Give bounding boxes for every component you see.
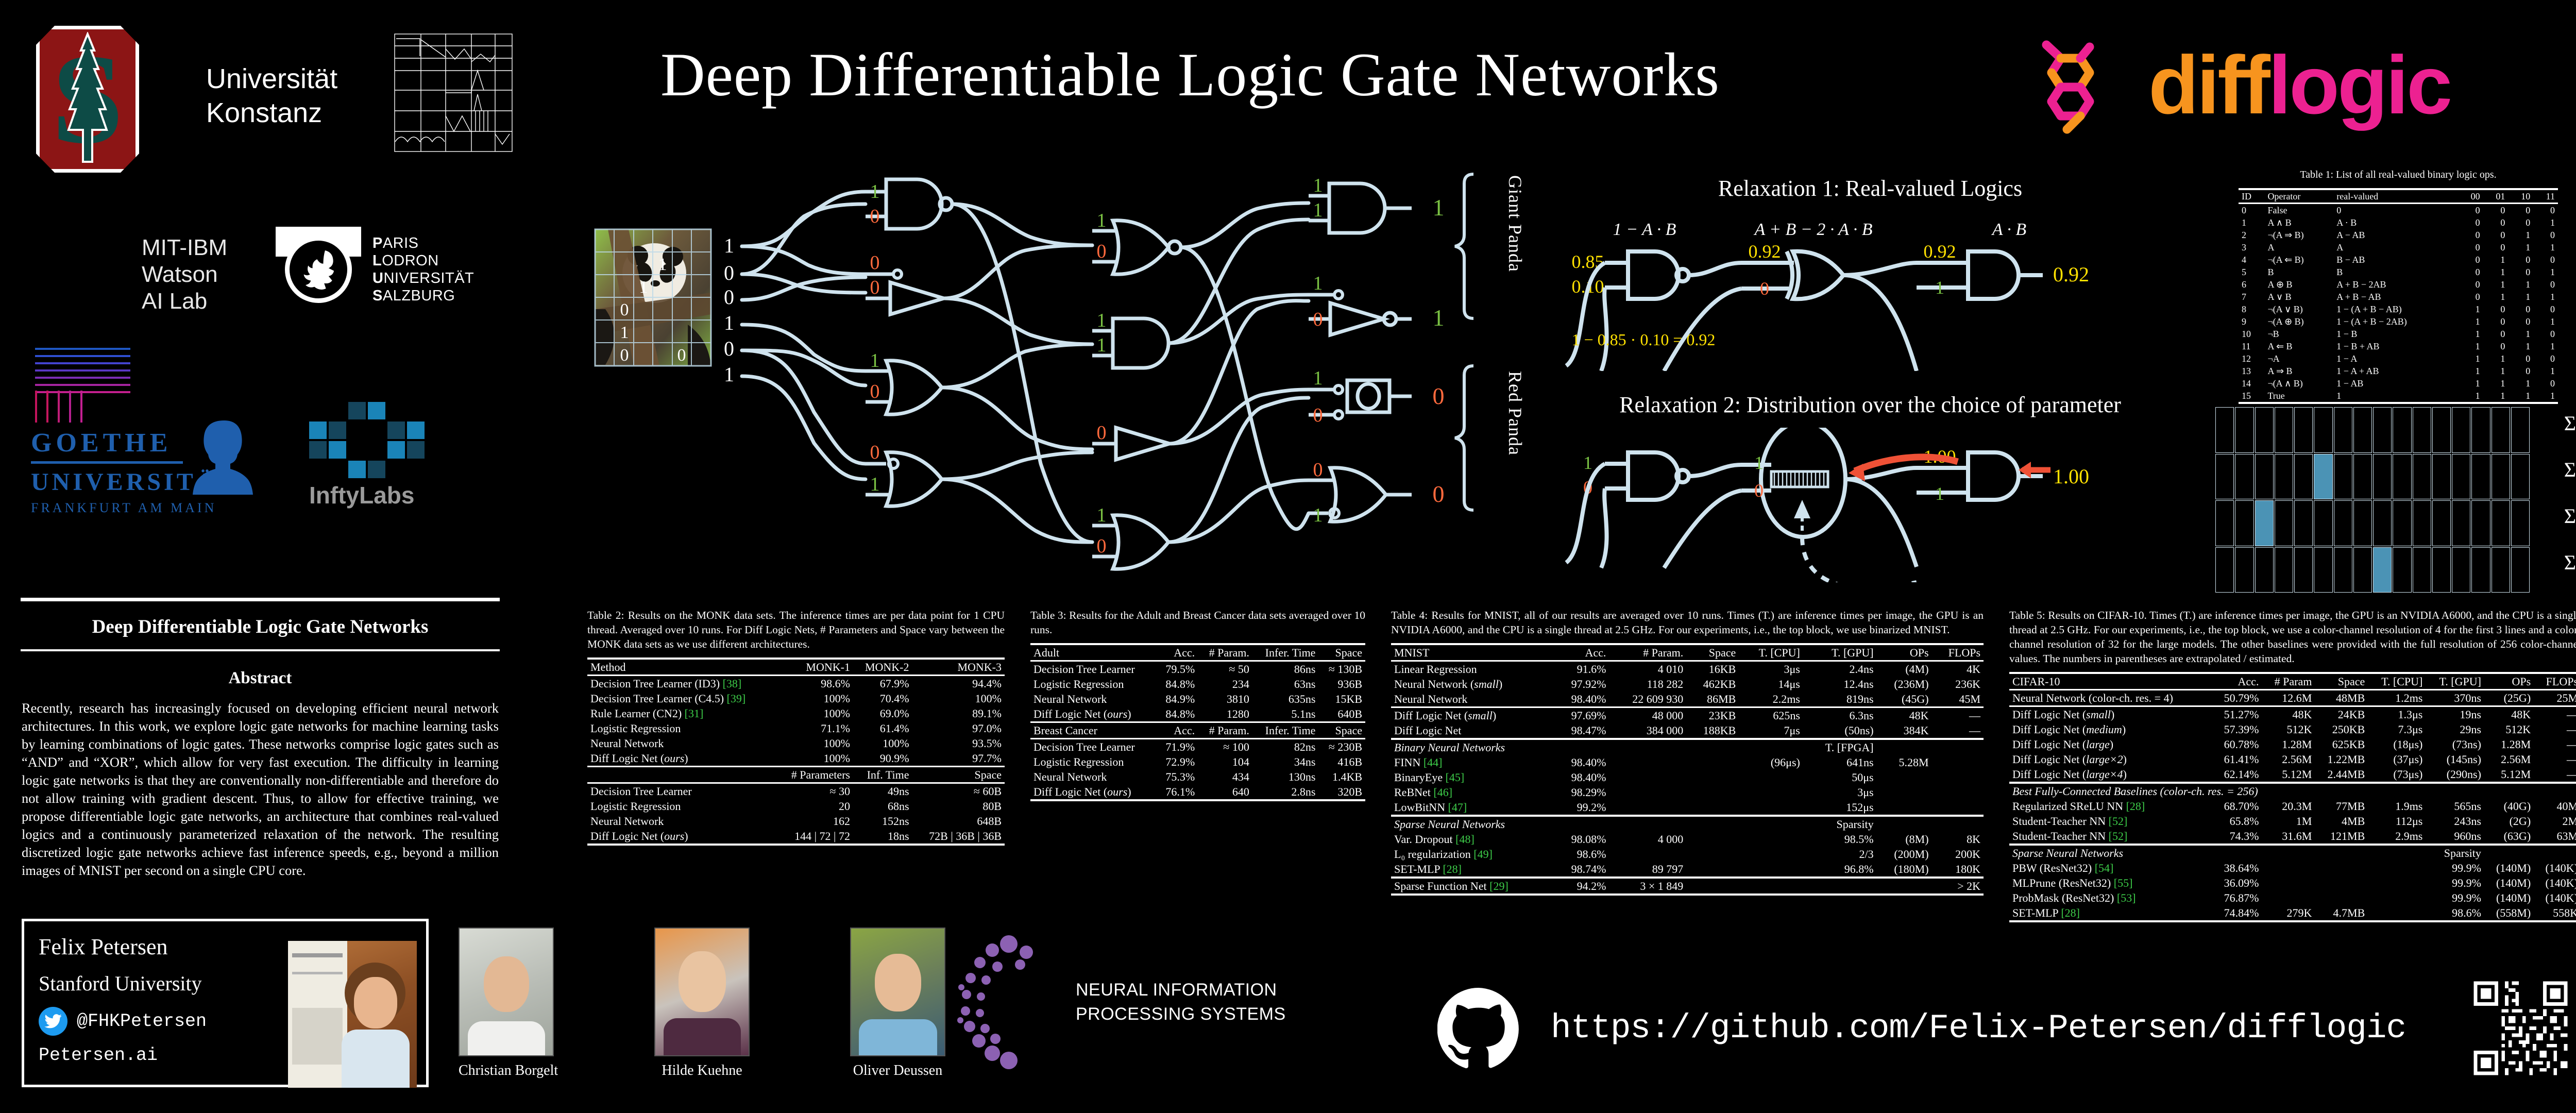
table-cell: Neural Network <box>587 736 777 751</box>
table-cell: B − AB <box>2333 254 2458 266</box>
table-cell <box>1739 785 1803 800</box>
table-cell: 434 <box>1198 769 1252 784</box>
table-cell: ¬(A ⇒ B) <box>2264 229 2333 241</box>
table-row: Decision Tree Learner (C4.5) [39]100%70.… <box>587 691 1005 706</box>
table-row: 11A ⇐ B1 − B + AB1011 <box>2239 340 2558 352</box>
table-cell: 1 <box>2458 377 2483 390</box>
table-cell: 1 − AB <box>2333 377 2458 390</box>
table-cell: (45G) <box>1877 692 1932 707</box>
table-cell: ≈ 60B <box>912 783 1005 799</box>
table-cell: Linear Regression <box>1391 661 1554 677</box>
table-cell: (140M) <box>2484 861 2534 875</box>
github-url[interactable]: https://github.com/Felix-Petersen/difflo… <box>1551 1009 2406 1048</box>
r2-output: 1.00 <box>2053 465 2089 488</box>
table-cell: (145ns) <box>2426 752 2484 767</box>
table-cell: 1 <box>2458 303 2483 315</box>
t3-h2-space: Space <box>1318 722 1365 739</box>
table-cell: 565ns <box>2426 799 2484 814</box>
table-cell: (4M) <box>1877 661 1932 677</box>
table-cell: 89 797 <box>1609 862 1686 878</box>
table-cell: (25G) <box>2484 690 2534 706</box>
logo-stanford: S <box>36 26 139 173</box>
table-cell: 1 <box>2533 266 2558 278</box>
table-cell: 12.4ns <box>1803 677 1877 692</box>
coauthor-2: Hilde Kuehne <box>654 927 750 1079</box>
table-cell: 99.9% <box>2426 861 2484 875</box>
inftylabs-text: InftyLabs <box>309 481 425 509</box>
svg-text:0: 0 <box>870 252 880 274</box>
t3-h2-param: # Param. <box>1198 722 1252 739</box>
table-cell: Decision Tree Learner (C4.5) [39] <box>587 691 777 706</box>
table-cell: 0 <box>2508 216 2533 229</box>
table-cell: 61.41% <box>2212 752 2262 767</box>
table-cell: 50μs <box>1803 770 1877 785</box>
table-row: L₀ regularization [49]98.6%2/3(200M)200K <box>1391 847 1984 862</box>
coauthor-name: Hilde Kuehne <box>654 1063 750 1079</box>
table-cell: 98.74% <box>1554 862 1609 878</box>
table-cell: 1 <box>2533 365 2558 377</box>
table-row: 5BB0101 <box>2239 266 2558 278</box>
t3-h-time: Infer. Time <box>1252 644 1319 661</box>
table-cell: 250KB <box>2315 722 2368 737</box>
table-cell: 5.12M <box>2262 767 2315 783</box>
logo-salzburg: PARIS LODRON UNIVERSITÄT SALZBURG <box>276 227 474 312</box>
table-cell: 0 <box>2458 291 2483 303</box>
table-cell: 1 <box>2533 315 2558 328</box>
table-cell: 6.3ns <box>1803 707 1877 723</box>
table-row: Diff Logic Net (large×4)62.14%5.12M2.44M… <box>2009 767 2576 783</box>
table-row <box>2009 921 2576 922</box>
table-cell: 2.44MB <box>2315 767 2368 783</box>
sigma-symbol-2: Σ <box>2564 458 2576 482</box>
table-cell: 3 <box>2239 241 2264 254</box>
table-cell: 1 <box>2508 278 2533 291</box>
table-cell: 82ns <box>1252 739 1319 755</box>
table-cell: 152ns <box>853 814 912 829</box>
table-row: 10¬B1 − B1010 <box>2239 328 2558 340</box>
table-cell: 558K <box>2534 905 2576 921</box>
table-cell: (236M) <box>1877 677 1932 692</box>
table-row: 14¬(A ∧ B)1 − AB1110 <box>2239 377 2558 390</box>
t2-h-params: # Parameters <box>777 767 853 783</box>
t3-h-space: Space <box>1318 644 1365 661</box>
table-cell: 63ns <box>1252 677 1319 692</box>
table-cell: ¬B <box>2264 328 2333 340</box>
table-row: Diff Logic Net (ours)76.1%6402.8ns320B <box>1030 784 1365 800</box>
r1-formula-3: A · B <box>1991 220 2027 239</box>
table-cell: 97.69% <box>1554 707 1609 723</box>
table-cell <box>1877 770 1932 785</box>
svg-text:1: 1 <box>1097 504 1107 526</box>
table-cell: Logistic Regression <box>587 799 777 814</box>
table-cell: 5.1ns <box>1252 706 1319 722</box>
table-cell: 1 <box>2333 390 2458 403</box>
difflogic-logo: difflogic <box>2040 28 2576 142</box>
table-cell: 0 <box>2508 365 2533 377</box>
table5: CIFAR-10 Acc. # Param Space T. [CPU] T. … <box>2009 672 2576 922</box>
svg-text:0: 0 <box>724 337 734 360</box>
table-cell: Student-Teacher NN [52] <box>2009 814 2212 829</box>
table-cell: 48MB <box>2315 690 2368 706</box>
table-cell: 2/3 <box>1803 847 1877 862</box>
citation-ref: [46] <box>1431 786 1452 799</box>
table-cell: A <box>2333 241 2458 254</box>
svg-text:1: 1 <box>870 350 880 372</box>
table-row: Diff Logic Net (small)97.69%48 00023KB62… <box>1391 707 1984 723</box>
svg-text:1: 1 <box>1097 310 1107 331</box>
table-cell: L₀ regularization [49] <box>1391 847 1554 862</box>
table-cell: 65.8% <box>2212 814 2262 829</box>
table-cell: 0 <box>2533 328 2558 340</box>
svg-text:0: 0 <box>1433 481 1445 507</box>
table-row: 15True11111 <box>2239 390 2558 403</box>
svg-text:1: 1 <box>1097 334 1107 356</box>
table-cell: 90.9% <box>853 751 912 767</box>
svg-text:1: 1 <box>658 255 667 274</box>
coauthor-photo <box>850 927 945 1056</box>
t3-h2-acc: Acc. <box>1157 722 1198 739</box>
table-subhead-col: Sparsity <box>2426 845 2484 861</box>
table-cell: 77MB <box>2315 799 2368 814</box>
table-cell: 36.09% <box>2212 875 2262 890</box>
t4-h-acc: Acc. <box>1554 644 1609 661</box>
table-cell: 98.08% <box>1554 832 1609 847</box>
table-row: Neural Network100%100%93.5% <box>587 736 1005 751</box>
author-card: Felix Petersen Stanford University @FHKP… <box>22 919 429 1087</box>
gate-or-1: 1 0 <box>866 350 942 414</box>
r2-third-b: 1 <box>1935 483 1944 504</box>
r1-third-a: 0.92 <box>1924 241 1956 262</box>
table-cell: (140K) <box>2534 890 2576 905</box>
table-cell: 320B <box>1318 784 1365 800</box>
gate-nand-1: 1 0 <box>866 179 952 229</box>
logic-layer-grid-diagram: Σ Σ Σ Σ <box>2215 407 2576 593</box>
svg-text:1: 1 <box>1313 199 1323 221</box>
table-cell: 97.7% <box>912 751 1005 767</box>
table-cell: 57.39% <box>2212 722 2262 737</box>
table-cell: 1 <box>2458 390 2483 403</box>
table-cell: Diff Logic Net (small) <box>2009 706 2212 722</box>
neurips-line1: NEURAL INFORMATION <box>1076 978 1286 1002</box>
wires-layer0 <box>742 192 866 479</box>
table-cell: 19ns <box>2426 706 2484 722</box>
table-row: Regularized SReLU NN [28]68.70%20.3M77MB… <box>2009 799 2576 814</box>
brand-diff: diff <box>2148 39 2268 131</box>
t5-h-acc: Acc. <box>2212 673 2262 690</box>
svg-text:1: 1 <box>724 311 734 334</box>
table2: Method MONK-1 MONK-2 MONK-3 Decision Tre… <box>587 657 1005 846</box>
table-row: LowBitNN [47]99.2%152μs <box>1391 800 1984 816</box>
table-cell: 100% <box>777 706 853 721</box>
table-cell: 100% <box>777 751 853 767</box>
table-cell: 4 <box>2239 254 2264 266</box>
table-cell: 7.3μs <box>2368 722 2426 737</box>
table-row: SET-MLP [28]98.74%89 79796.8%(180M)180K <box>1391 862 1984 878</box>
table-cell: 0 <box>2458 229 2483 241</box>
table-cell: 0 <box>2508 303 2533 315</box>
table-row: Decision Tree Learner (ID3) [38]98.6%67.… <box>587 676 1005 692</box>
table-cell <box>1686 832 1739 847</box>
svg-text:0: 0 <box>1097 241 1107 262</box>
table-cell: ¬A <box>2264 352 2333 365</box>
svg-text:1: 1 <box>870 474 880 495</box>
table-cell: 16KB <box>1686 661 1739 677</box>
inftylabs-grid-icon <box>309 402 425 478</box>
table-cell: 99.9% <box>2426 890 2484 905</box>
table-cell: 86ns <box>1252 661 1319 677</box>
table-cell: FINN [44] <box>1391 755 1554 770</box>
gate-xnor-2: 1 0 <box>1092 210 1181 274</box>
table-cell: 4 000 <box>1609 832 1686 847</box>
table-cell: Decision Tree Learner <box>1030 739 1157 755</box>
t4-h-tgpu: T. [GPU] <box>1803 644 1877 661</box>
table1-block: Table 1: List of all real-valued binary … <box>2239 167 2558 404</box>
t2-h-m1: MONK-1 <box>777 659 853 676</box>
table-cell: A · B <box>2333 216 2458 229</box>
relaxation2-title: Relaxation 2: Distribution over the choi… <box>1525 392 2215 418</box>
citation-ref: [31] <box>682 707 703 720</box>
table-cell: Diff Logic Net (large) <box>2009 737 2212 752</box>
table-cell: Diff Logic Net (small) <box>1391 707 1554 723</box>
table-cell <box>1739 770 1803 785</box>
t1-h-00: 00 <box>2458 189 2483 204</box>
table-cell: 1 <box>2483 254 2509 266</box>
table-row <box>2239 403 2558 404</box>
table-row: ReBNet [46]98.29%3μs <box>1391 785 1984 800</box>
author-photo <box>288 941 417 1088</box>
left-abstract-panel: Deep Differentiable Logic Gate Networks … <box>21 598 500 880</box>
table-cell: 10 <box>2239 328 2264 340</box>
brand-logic: logic <box>2268 39 2450 131</box>
t3-h-acc: Acc. <box>1157 644 1198 661</box>
table-cell: 60.78% <box>2212 737 2262 752</box>
table-cell: 1 <box>2483 390 2509 403</box>
table-cell: 20.3M <box>2262 799 2315 814</box>
table-cell: PBW (ResNet32) [54] <box>2009 861 2212 875</box>
table-row: Logistic Regression84.8%23463ns936B <box>1030 677 1365 692</box>
table-cell <box>2315 890 2368 905</box>
table-row: Neural Network98.40%22 609 93086MB2.2ms8… <box>1391 692 1984 707</box>
table-row: Neural Network162152ns648B <box>587 814 1005 829</box>
table-cell: ¬(A ⇐ B) <box>2264 254 2333 266</box>
github-row[interactable]: https://github.com/Felix-Petersen/difflo… <box>1437 969 2571 1087</box>
table-cell: 67.9% <box>853 676 912 692</box>
table-row: Diff Logic Net98.47%384 000188KB7μs(50ns… <box>1391 723 1984 739</box>
table-cell <box>1877 878 1932 895</box>
table-cell: Diff Logic Net (large×4) <box>2009 767 2212 783</box>
table-cell: Neural Network <box>1391 692 1554 707</box>
table-cell: 1 <box>2508 229 2533 241</box>
table-cell: 243ns <box>2426 814 2484 829</box>
r2-mid-a: 1 <box>1754 452 1764 473</box>
table-cell <box>2368 875 2426 890</box>
table-cell: 2.4ns <box>1803 661 1877 677</box>
table-cell <box>2315 875 2368 890</box>
table-cell: 162 <box>777 814 853 829</box>
table-cell: 15KB <box>1318 692 1365 706</box>
t2-h-space: Space <box>912 767 1005 783</box>
table-cell: 2 <box>2239 229 2264 241</box>
table-cell: Sparse Function Net [29] <box>1391 878 1554 895</box>
table-cell: 1 <box>2458 365 2483 377</box>
table-cell: (140K) <box>2534 875 2576 890</box>
citation-ref: [48] <box>1453 833 1475 846</box>
table-cell: 0 <box>2483 229 2509 241</box>
table-cell: A <box>2264 241 2333 254</box>
table-cell: False <box>2264 204 2333 217</box>
table-cell: (37μs) <box>2368 752 2426 767</box>
table-cell: 1 <box>2533 216 2558 229</box>
table-cell: 1.9ms <box>2368 799 2426 814</box>
table-row: Rule Learner (CN2) [31]100%69.0%89.1% <box>587 706 1005 721</box>
svg-text:1: 1 <box>1313 504 1323 526</box>
table-cell: 61.4% <box>853 721 912 736</box>
r1-formula-1: 1 − A · B <box>1613 220 1676 239</box>
table-cell <box>1686 785 1739 800</box>
table-cell: 99.9% <box>2426 875 2484 890</box>
r2-gate-distribution: 1 0 <box>1664 428 1917 582</box>
table-cell <box>1609 770 1686 785</box>
table-cell: 279K <box>2262 905 2315 921</box>
table-cell: 104 <box>1198 754 1252 769</box>
table-cell <box>2262 861 2315 875</box>
svg-text:1: 1 <box>1313 273 1323 294</box>
github-icon <box>1437 987 1520 1069</box>
t3-h-adult: Adult <box>1030 644 1157 661</box>
table-cell: 1 <box>2483 352 2509 365</box>
table-cell: 1 <box>2508 377 2533 390</box>
svg-text:1: 1 <box>1433 194 1445 221</box>
table-cell <box>2262 875 2315 890</box>
table-cell: True <box>2264 390 2333 403</box>
table-row: Diff Logic Net (large)60.78%1.28M625KB(1… <box>2009 737 2576 752</box>
table-cell: A ⊕ B <box>2264 278 2333 291</box>
table-cell: 1 <box>2483 377 2509 390</box>
goethe-line3: FRANKFURT AM MAIN <box>31 500 263 516</box>
table-cell: 1.28M <box>2484 737 2534 752</box>
table-cell: 0 <box>2458 204 2483 217</box>
table-cell: 98.6% <box>777 676 853 692</box>
left-paper-title: Deep Differentiable Logic Gate Networks <box>21 616 500 638</box>
table-cell: 2.8ns <box>1252 784 1319 800</box>
table-cell: 0 <box>2458 216 2483 229</box>
table-subhead: Sparse Neural Networks <box>2009 845 2212 861</box>
table-cell: LowBitNN [47] <box>1391 800 1554 816</box>
table4: MNIST Acc. # Param. Space T. [CPU] T. [G… <box>1391 643 1984 896</box>
table-cell: 80B <box>912 799 1005 814</box>
table-cell: — <box>1932 707 1984 723</box>
table-cell: 69.0% <box>853 706 912 721</box>
citation-ref: [55] <box>2111 876 2132 889</box>
t5-h-param: # Param <box>2262 673 2315 690</box>
gate-buffer-2: 0 <box>1092 422 1170 460</box>
table-cell: 70.4% <box>853 691 912 706</box>
relaxation1-figure: 1 − A · B A + B − 2 · A · B A · B 0.85 0… <box>1556 216 2205 371</box>
t4-h-ops: OPs <box>1877 644 1932 661</box>
table-cell: (140M) <box>2484 890 2534 905</box>
table-cell: (40G) <box>2484 799 2534 814</box>
table4-caption: Table 4: Results for MNIST, all of our r… <box>1391 608 1984 637</box>
table-cell: 640B <box>1318 706 1365 722</box>
table-row: Diff Logic Net (ours)84.8%12805.1ns640B <box>1030 706 1365 722</box>
svg-text:0: 0 <box>724 285 734 309</box>
table-row: Decision Tree Learner79.5%≈ 5086ns≈ 130B <box>1030 661 1365 677</box>
table-cell: — <box>2534 706 2576 722</box>
t2-h-method: Method <box>587 659 777 676</box>
salzburg-l1b: ARIS <box>383 235 419 251</box>
table-cell: (180M) <box>1877 862 1932 878</box>
table-cell: ≈ 130B <box>1318 661 1365 677</box>
table-cell: 6 <box>2239 278 2264 291</box>
table-cell: 31.6M <box>2262 829 2315 845</box>
input-wire-values: 1 0 0 1 0 1 <box>724 234 734 386</box>
table-row: Logistic Regression71.1%61.4%97.0% <box>587 721 1005 736</box>
table-row <box>1391 895 1984 896</box>
table-cell: 84.8% <box>1157 677 1198 692</box>
table-row: 6A ⊕ BA + B − 2AB0110 <box>2239 278 2558 291</box>
table-cell: 1M <box>2262 814 2315 829</box>
t1-h-11: 11 <box>2533 189 2558 204</box>
table-cell: 91.6% <box>1554 661 1609 677</box>
table-cell: Diff Logic Net (ours) <box>587 829 777 845</box>
table-cell: 62.14% <box>2212 767 2262 783</box>
author-twitter-handle[interactable]: @FHKPetersen <box>77 1011 207 1032</box>
table-row: 4¬(A ⇐ B)B − AB0100 <box>2239 254 2558 266</box>
table-row: Logistic Regression2068ns80B <box>587 799 1005 814</box>
table-row: 12¬A1 − A1100 <box>2239 352 2558 365</box>
svg-text:0: 0 <box>724 261 734 284</box>
svg-text:0: 0 <box>620 346 629 365</box>
table-cell: 25M <box>2534 690 2576 706</box>
t4-h-mnist: MNIST <box>1391 644 1554 661</box>
table-cell: 0 <box>2458 254 2483 266</box>
table-cell: 48K <box>2262 706 2315 722</box>
table-cell: 20 <box>777 799 853 814</box>
table-cell: 1280 <box>1198 706 1252 722</box>
table-cell: 236K <box>1932 677 1984 692</box>
table-cell: (18μs) <box>2368 737 2426 752</box>
citation-ref: [44] <box>1420 756 1442 769</box>
citation-ref: [52] <box>2106 830 2127 842</box>
t1-h-id: ID <box>2239 189 2264 204</box>
table-cell: B <box>2333 266 2458 278</box>
mitibm-line3: AI Lab <box>142 288 227 315</box>
r1-mid-b: 0 <box>1760 278 1769 299</box>
table2-block: Table 2: Results on the MONK data sets. … <box>587 608 1005 846</box>
table-cell: 0 <box>2533 204 2558 217</box>
table-cell: 640 <box>1198 784 1252 800</box>
citation-ref: [52] <box>2106 815 2127 828</box>
t2-h-m3: MONK-3 <box>912 659 1005 676</box>
table-cell: A − AB <box>2333 229 2458 241</box>
table1: ID Operator real-valued 00 01 10 11 0Fal… <box>2239 188 2558 404</box>
svg-text:1: 1 <box>639 278 648 297</box>
t4-h-tcpu: T. [CPU] <box>1739 644 1803 661</box>
table-cell: Rule Learner (CN2) [31] <box>587 706 777 721</box>
divider-mid <box>21 649 500 651</box>
table-cell: 1 <box>2458 328 2483 340</box>
svg-text:0: 0 <box>1313 459 1323 481</box>
coauthor-name: Christian Borgelt <box>459 1063 558 1079</box>
table-cell: 63M <box>2534 829 2576 845</box>
citation-ref: [45] <box>1443 771 1464 784</box>
table-cell <box>1686 800 1739 816</box>
table-cell: 98.6% <box>1554 847 1609 862</box>
table-cell: 18ns <box>853 829 912 845</box>
table-row: Diff Logic Net (large×2)61.41%2.56M1.22M… <box>2009 752 2576 767</box>
svg-text:0: 0 <box>677 346 686 365</box>
table-cell: (96μs) <box>1739 755 1803 770</box>
